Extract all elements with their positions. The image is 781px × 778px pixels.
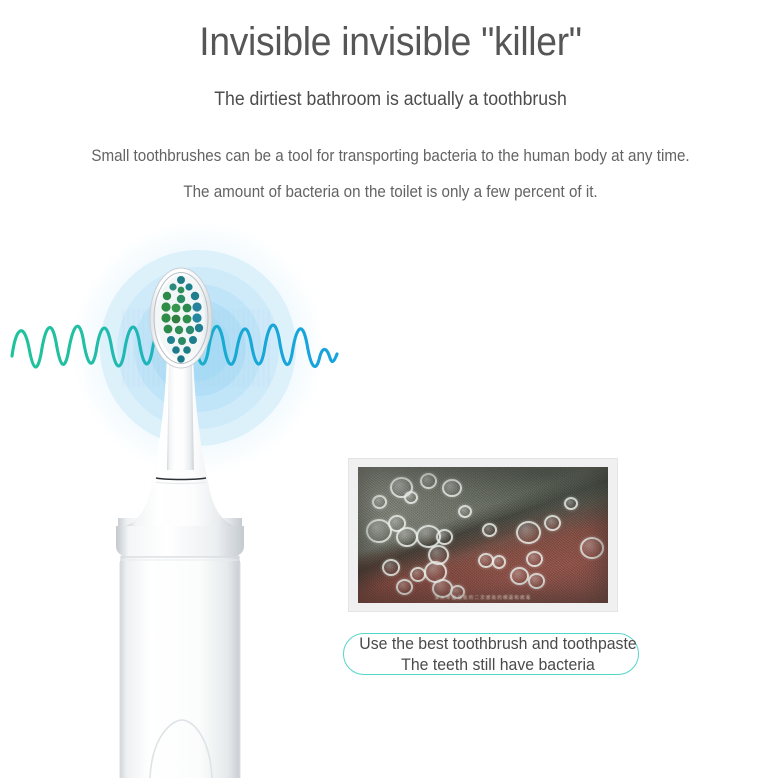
caption-line-2: The teeth still have bacteria [349, 655, 647, 676]
toothbrush-illustration [0, 230, 360, 778]
toothbrush-body-icon [0, 230, 360, 778]
photo-vignette [358, 467, 608, 603]
page-subtitle: The dirtiest bathroom is actually a toot… [27, 87, 753, 113]
caption-text: Use the best toothbrush and toothpaste T… [349, 634, 647, 675]
photo-watermark-text: 深入牙齿深处的二次感染的细菌和病毒 [358, 595, 608, 601]
photo-image: 深入牙齿深处的二次感染的细菌和病毒 [358, 467, 608, 603]
page-title: Invisible invisible "killer" [27, 18, 753, 66]
body-text-line-2: The amount of bacteria on the toilet is … [31, 180, 750, 204]
promo-page: Invisible invisible "killer" The dirties… [0, 0, 781, 778]
body-text-line-1: Small toothbrushes can be a tool for tra… [31, 144, 750, 168]
caption-line-1: Use the best toothbrush and toothpaste [349, 634, 647, 655]
microscope-bacteria-photo: 深入牙齿深处的二次感染的细菌和病毒 [348, 458, 618, 612]
